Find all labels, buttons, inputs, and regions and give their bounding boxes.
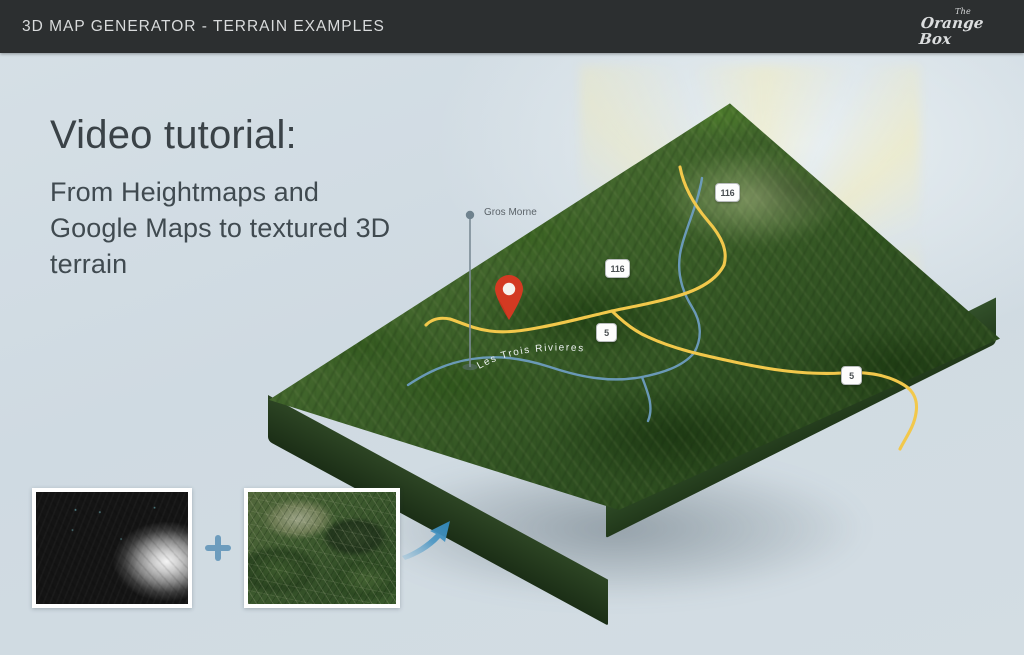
place-label: Gros Morne bbox=[484, 207, 537, 218]
page-title: 3D MAP GENERATOR - TERRAIN EXAMPLES bbox=[22, 18, 385, 36]
river-name-label: Les Trois Rivieres bbox=[472, 335, 662, 381]
heightmap-markers bbox=[36, 492, 188, 604]
river-paths bbox=[408, 178, 702, 421]
satellite-texture bbox=[248, 492, 396, 604]
route-shield-116-lower[interactable]: 116 bbox=[605, 259, 630, 278]
source-inputs-row bbox=[32, 488, 400, 608]
route-shield-label: 5 bbox=[849, 371, 854, 381]
route-shield-label: 116 bbox=[611, 264, 625, 274]
satellite-thumbnail[interactable] bbox=[244, 488, 400, 608]
headline-subtitle: From Heightmaps and Google Maps to textu… bbox=[50, 174, 400, 283]
map-pin-icon[interactable] bbox=[492, 273, 526, 321]
route-shield-5-right[interactable]: 5 bbox=[841, 366, 862, 385]
brand-logo[interactable]: The Orange Box bbox=[920, 7, 1006, 47]
route-shield-116-upper[interactable]: 116 bbox=[715, 183, 740, 202]
headline-title: Video tutorial: bbox=[50, 112, 400, 158]
river-name-text: Les Trois Rivieres bbox=[475, 342, 585, 371]
header-bar: 3D MAP GENERATOR - TERRAIN EXAMPLES The … bbox=[0, 0, 1024, 53]
headline-block: Video tutorial: From Heightmaps and Goog… bbox=[50, 112, 400, 283]
arrow-right-up-icon bbox=[400, 516, 456, 562]
plus-icon bbox=[201, 531, 235, 565]
heightmap-thumbnail[interactable] bbox=[32, 488, 192, 608]
slide-canvas: 3D MAP GENERATOR - TERRAIN EXAMPLES The … bbox=[0, 0, 1024, 655]
route-shield-label: 116 bbox=[721, 188, 735, 198]
logo-name-text: Orange Box bbox=[918, 15, 1007, 47]
